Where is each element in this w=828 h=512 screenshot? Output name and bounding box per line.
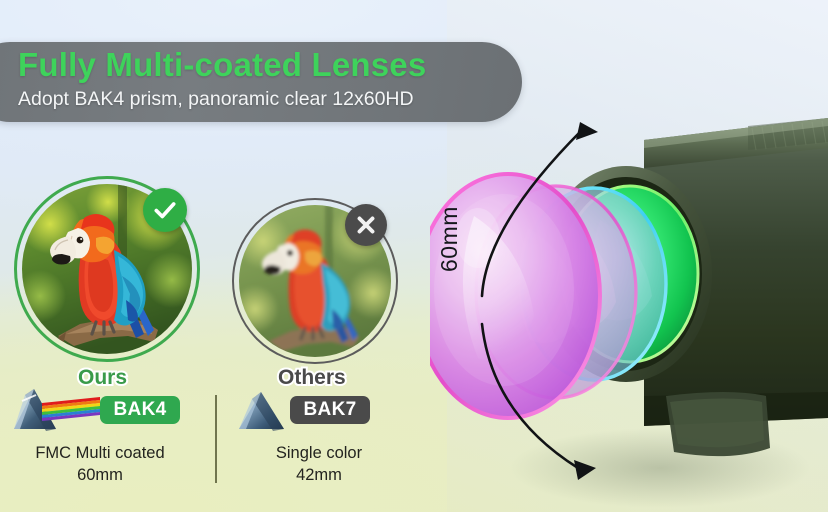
ours-desc-line2: 60mm: [0, 465, 200, 487]
dimension-label: 60mm: [436, 206, 463, 272]
header-title: Fully Multi-coated Lenses: [18, 46, 426, 84]
check-icon: [143, 188, 187, 232]
bak7-badge: BAK7: [290, 396, 370, 424]
others-desc-line1: Single color: [228, 443, 410, 465]
ours-description: FMC Multi coated 60mm: [0, 443, 200, 487]
rainbow-prism-icon: [12, 387, 104, 433]
column-divider: [215, 395, 217, 483]
header-subtitle: Adopt BAK4 prism, panoramic clear 12x60H…: [18, 88, 414, 111]
others-description: Single color 42mm: [228, 443, 410, 487]
product-feature-image: Fully Multi-coated Lenses Adopt BAK4 pri…: [0, 0, 828, 512]
plain-prism-icon: [236, 390, 288, 432]
svg-text:Others: Others: [278, 366, 346, 389]
svg-text:Ours: Ours: [78, 366, 127, 389]
others-caption: Others: [270, 360, 400, 392]
bak4-badge: BAK4: [100, 396, 180, 424]
product-lens-assembly: [430, 96, 828, 512]
ours-desc-line1: FMC Multi coated: [0, 443, 200, 465]
cross-icon: [345, 204, 387, 246]
others-desc-line2: 42mm: [228, 465, 410, 487]
